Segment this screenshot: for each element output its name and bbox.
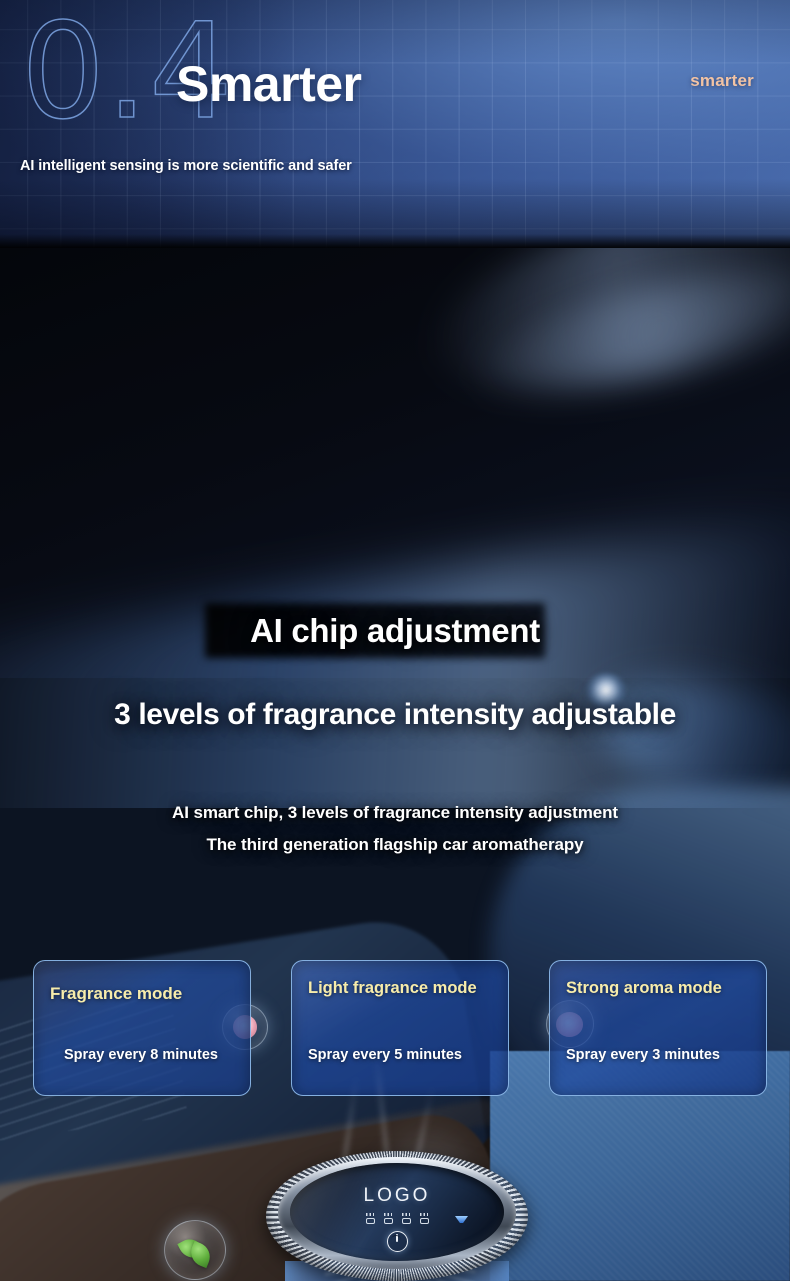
body-text-line-2: The third generation flagship car aromat… (0, 835, 790, 855)
mode-card-strong-aroma[interactable]: Strong aroma mode Spray every 3 minutes (549, 960, 767, 1096)
product-photo-stage: AI chip adjustment 3 levels of fragrance… (0, 248, 790, 1281)
spray-indicator-icon (383, 1213, 394, 1225)
mode-card-fragrance[interactable]: Fragrance mode Spray every 8 minutes (33, 960, 251, 1096)
header-fade (0, 234, 790, 248)
mode-card-title: Strong aroma mode (566, 978, 754, 999)
main-headline: AI chip adjustment (0, 612, 790, 650)
header-subtitle: AI intelligent sensing is more scientifi… (20, 158, 352, 174)
mode-indicator-group (290, 1213, 504, 1225)
page-title: Smarter (176, 57, 362, 111)
body-text-line-1: AI smart chip, 3 levels of fragrance int… (0, 803, 790, 823)
spray-indicator-icon (365, 1213, 376, 1225)
power-button[interactable] (290, 1231, 504, 1252)
device-logo: LOGO (290, 1185, 504, 1207)
mode-card-title: Fragrance mode (50, 983, 238, 1004)
card-sheen (34, 961, 250, 1095)
mode-card-title: Light fragrance mode (308, 978, 496, 999)
sub-headline: 3 levels of fragrance intensity adjustab… (0, 698, 790, 732)
product-device: LOGO (252, 1143, 542, 1281)
device-control-face[interactable]: LOGO (290, 1163, 504, 1261)
bubble-leaf-decoration (164, 1220, 226, 1280)
mode-card-description: Spray every 3 minutes (566, 1047, 754, 1063)
header-tag: smarter (690, 71, 754, 91)
signal-indicator-icon (455, 1213, 468, 1223)
mode-cards-row: Fragrance mode Spray every 8 minutes Lig… (0, 960, 790, 1100)
power-icon (387, 1231, 408, 1252)
mode-card-description: Spray every 8 minutes (64, 1047, 238, 1063)
mode-card-light-fragrance[interactable]: Light fragrance mode Spray every 5 minut… (291, 960, 509, 1096)
spray-indicator-icon (401, 1213, 412, 1225)
mode-card-description: Spray every 5 minutes (308, 1047, 496, 1063)
header-banner: 0.4 Smarter smarter AI intelligent sensi… (0, 0, 790, 248)
spray-indicator-icon (419, 1213, 430, 1225)
product-marketing-page: 0.4 Smarter smarter AI intelligent sensi… (0, 0, 790, 1281)
